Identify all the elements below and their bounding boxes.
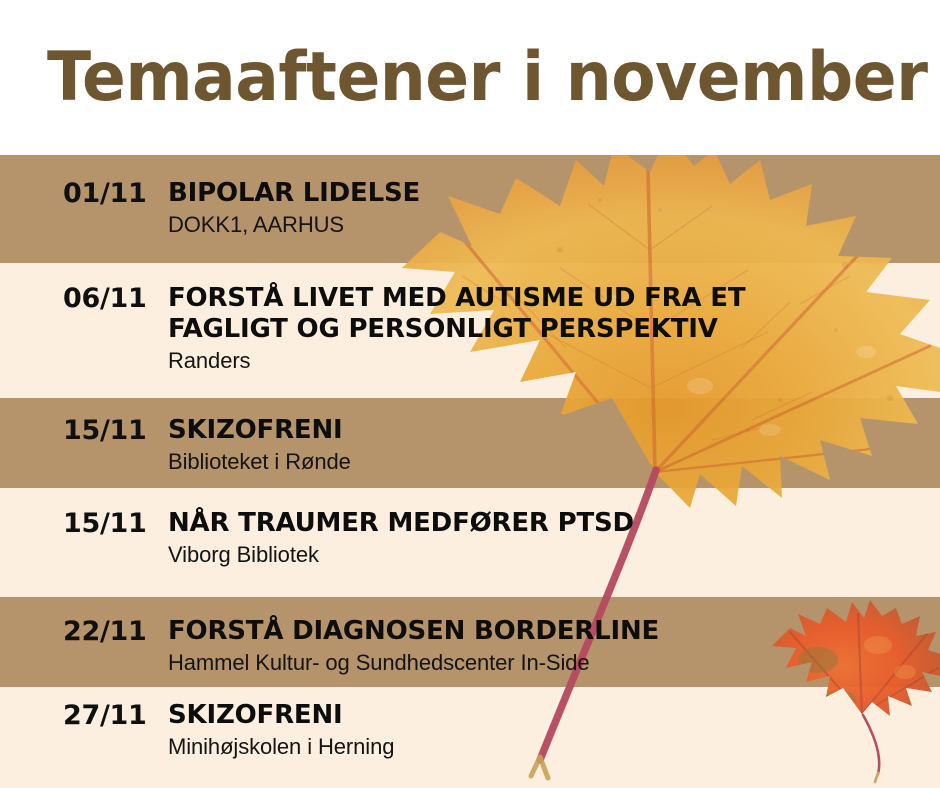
header: Temaaftener i november xyxy=(0,0,940,155)
event-title: FORSTÅ LIVET MED AUTISME UD FRA ET FAGLI… xyxy=(168,283,926,345)
event-venue: Viborg Bibliotek xyxy=(168,542,926,568)
event-date: 06/11 xyxy=(0,283,168,314)
event-body: SKIZOFRENI Biblioteket i Rønde xyxy=(168,415,940,476)
event-title: SKIZOFRENI xyxy=(168,415,926,446)
event-date: 22/11 xyxy=(0,616,168,647)
event-row-3[interactable]: 15/11 SKIZOFRENI Biblioteket i Rønde xyxy=(0,415,940,476)
event-title: BIPOLAR LIDELSE xyxy=(168,178,926,209)
poster: Temaaftener i november 01/11 BIPOLAR LID… xyxy=(0,0,940,788)
event-body: FORSTÅ LIVET MED AUTISME UD FRA ET FAGLI… xyxy=(168,283,940,375)
event-body: SKIZOFRENI Minihøjskolen i Herning xyxy=(168,700,940,761)
event-venue: Minihøjskolen i Herning xyxy=(168,734,926,760)
event-date: 15/11 xyxy=(0,415,168,446)
event-date: 01/11 xyxy=(0,178,168,209)
event-body: BIPOLAR LIDELSE DOKK1, AARHUS xyxy=(168,178,940,239)
page-title: Temaaftener i november xyxy=(47,44,927,112)
event-venue: Biblioteket i Rønde xyxy=(168,449,926,475)
event-date: 27/11 xyxy=(0,700,168,731)
event-date: 15/11 xyxy=(0,508,168,539)
event-title: FORSTÅ DIAGNOSEN BORDERLINE xyxy=(168,616,926,647)
event-title: SKIZOFRENI xyxy=(168,700,926,731)
event-row-6[interactable]: 27/11 SKIZOFRENI Minihøjskolen i Herning xyxy=(0,700,940,761)
event-venue: Hammel Kultur- og Sundhedscenter In-Side xyxy=(168,650,926,676)
event-venue: Randers xyxy=(168,348,926,374)
event-body: NÅR TRAUMER MEDFØRER PTSD Viborg Bibliot… xyxy=(168,508,940,569)
event-row-1[interactable]: 01/11 BIPOLAR LIDELSE DOKK1, AARHUS xyxy=(0,178,940,239)
event-body: FORSTÅ DIAGNOSEN BORDERLINE Hammel Kultu… xyxy=(168,616,940,677)
event-row-4[interactable]: 15/11 NÅR TRAUMER MEDFØRER PTSD Viborg B… xyxy=(0,508,940,569)
event-venue: DOKK1, AARHUS xyxy=(168,212,926,238)
event-row-5[interactable]: 22/11 FORSTÅ DIAGNOSEN BORDERLINE Hammel… xyxy=(0,616,940,677)
event-title: NÅR TRAUMER MEDFØRER PTSD xyxy=(168,508,926,539)
event-row-2[interactable]: 06/11 FORSTÅ LIVET MED AUTISME UD FRA ET… xyxy=(0,283,940,375)
